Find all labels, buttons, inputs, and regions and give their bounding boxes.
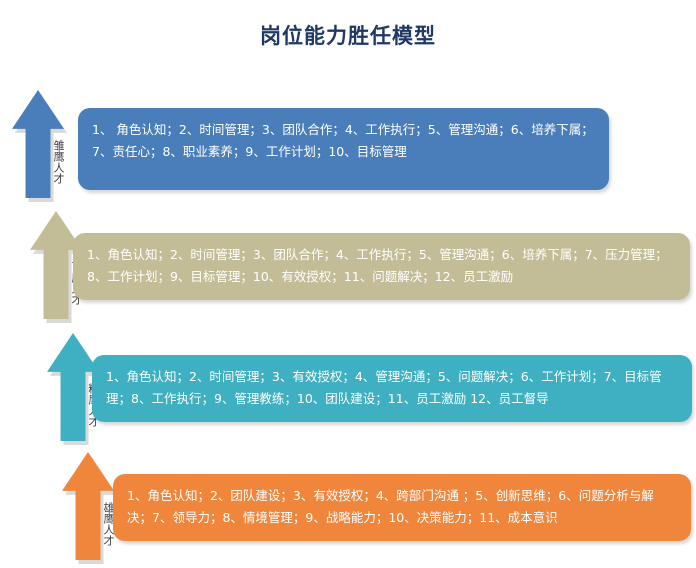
competency-box-2[interactable]: 1、角色认知；2、时间管理；3、团队合作；4、工作执行；5、管理沟通；6、培养下… (73, 233, 690, 300)
competency-text-2: 1、角色认知；2、时间管理；3、团队合作；4、工作执行；5、管理沟通；6、培养下… (87, 244, 676, 288)
competency-text-3: 1、角色认知；2、时间管理；3、有效授权；4、管理沟通；5、问题解决；6、工作计… (106, 366, 678, 410)
competency-box-1[interactable]: 1、 角色认知；2、时间管理；3、团队合作；4、工作执行；5、管理沟通；6、培养… (78, 108, 609, 190)
level-row-4: 雄鹰人才 1、角色认知；2、团队建设；3、有效授权；4、跨部门沟通 ；5、创新思… (0, 446, 696, 568)
level-row-3: 精鹰人才 1、角色认知；2、时间管理；3、有效授权；4、管理沟通；5、问题解决；… (0, 327, 696, 449)
page-title: 岗位能力胜任模型 (0, 22, 696, 50)
competency-box-3[interactable]: 1、角色认知；2、时间管理；3、有效授权；4、管理沟通；5、问题解决；6、工作计… (92, 355, 692, 422)
level-arrow-label-4: 雄鹰人才 (62, 486, 114, 560)
level-arrow-4[interactable]: 雄鹰人才 (62, 452, 118, 564)
competency-text-4: 1、角色认知；2、团队建设；3、有效授权；4、跨部门沟通 ；5、创新思维；6、问… (127, 485, 677, 529)
competency-text-1: 1、 角色认知；2、时间管理；3、团队合作；4、工作执行；5、管理沟通；6、培养… (92, 119, 595, 163)
level-arrow-label-1: 雏鹰人才 (12, 124, 64, 198)
level-row-1: 雏鹰人才 1、 角色认知；2、时间管理；3、团队合作；4、工作执行；5、管理沟通… (0, 84, 696, 206)
level-arrow-1[interactable]: 雏鹰人才 (12, 90, 68, 202)
level-row-2: 飞鹰人才 1、角色认知；2、时间管理；3、团队合作；4、工作执行；5、管理沟通；… (0, 205, 696, 327)
competency-box-4[interactable]: 1、角色认知；2、团队建设；3、有效授权；4、跨部门沟通 ；5、创新思维；6、问… (113, 474, 691, 541)
